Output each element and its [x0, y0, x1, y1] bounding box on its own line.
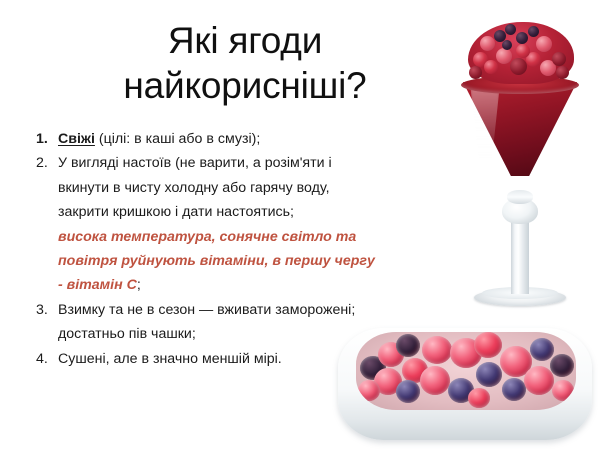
berry-glass-image — [440, 8, 598, 308]
berry — [420, 366, 450, 395]
list-item-number: 1. — [36, 127, 58, 151]
warning-note-line1: висока температура, сонячне світло та — [58, 225, 432, 249]
warning-note-text: - вітамін С — [58, 277, 137, 293]
berry — [396, 380, 420, 403]
list-item-body: Свіжі (цілі: в каші або в смузі); — [58, 127, 432, 151]
berry — [550, 354, 574, 377]
berry — [502, 40, 512, 50]
berry — [516, 32, 528, 44]
berry-bowl-image — [330, 322, 600, 450]
list-item-text-line2: достатньо пів чашки; — [58, 326, 196, 342]
list-item-keyword: Свіжі — [58, 131, 95, 147]
list-item-text: (цілі: в каші або в смузі); — [95, 131, 260, 147]
bowl-interior — [356, 332, 576, 410]
berry — [530, 338, 554, 361]
berry — [524, 366, 554, 395]
berry — [496, 48, 512, 64]
glass-stem — [511, 220, 529, 294]
berry — [528, 26, 539, 37]
list-item: 2. У вигляді настоїв (не варити, а розім… — [36, 151, 432, 297]
list-item-text-line2: вкинути в чисту холодну або гарячу воду, — [58, 180, 330, 196]
page-title: Які ягоди найкорисніші? — [60, 18, 430, 108]
list-item-body: У вигляді настоїв (не варити, а розім'ят… — [58, 151, 432, 297]
berry — [552, 380, 574, 401]
berry — [396, 334, 420, 357]
berry — [468, 388, 490, 408]
glass-stem-collar — [507, 190, 533, 204]
berry — [502, 378, 526, 401]
berry — [476, 362, 502, 387]
list-item-number: 2. — [36, 151, 58, 175]
list-item-text-line1: Сушені, але в значно меншій мірі. — [58, 351, 282, 367]
list-item: 1. Свіжі (цілі: в каші або в смузі); — [36, 127, 432, 151]
warning-note-line3: - вітамін С; — [58, 273, 432, 297]
list-item-text-line3: закрити кришкою і дати настоятись; — [58, 204, 294, 220]
berry — [505, 24, 516, 35]
berry — [484, 60, 498, 74]
berry — [510, 58, 527, 75]
glass-highlight — [470, 84, 500, 162]
list-item-text-line1: Взимку та не в сезон — вживати заморожен… — [58, 302, 355, 318]
list-item-text-line1: У вигляді настоїв (не варити, а розім'ят… — [58, 155, 332, 171]
berry — [358, 380, 380, 401]
berry — [556, 66, 569, 79]
warning-note-line2: повітря руйнують вітаміни, в першу чергу — [58, 249, 432, 273]
berry — [516, 44, 530, 58]
berry — [469, 66, 482, 79]
berry — [552, 52, 566, 66]
warning-note-punctuation: ; — [137, 277, 141, 293]
list-item-number: 4. — [36, 347, 58, 371]
berry — [474, 332, 502, 358]
berry — [536, 36, 552, 52]
slide-canvas: Які ягоди найкорисніші? 1. Свіжі (цілі: … — [0, 0, 600, 450]
berry — [422, 336, 452, 364]
berry — [480, 36, 495, 51]
list-item-number: 3. — [36, 298, 58, 322]
